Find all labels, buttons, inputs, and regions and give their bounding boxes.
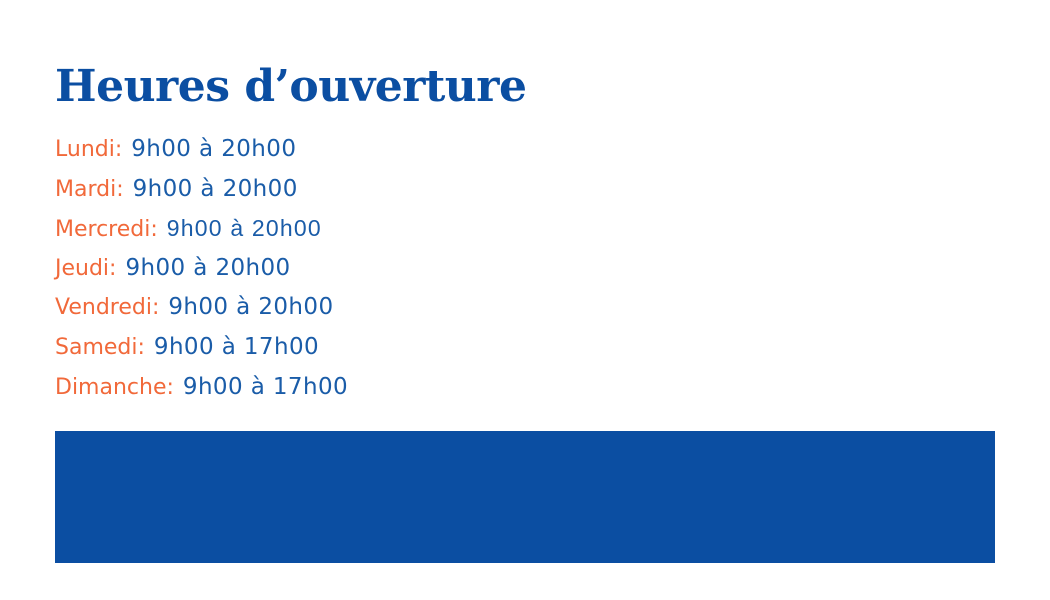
page-title: Heures d’ouverture bbox=[55, 61, 526, 113]
day-hours: 9h00 à 17h00 bbox=[174, 371, 348, 403]
day-label: Samedi: bbox=[55, 332, 145, 364]
day-label: Mercredi: bbox=[55, 214, 158, 246]
day-hours: 9h00 à 20h00 bbox=[122, 133, 296, 165]
day-hours: 9h00 à 17h00 bbox=[145, 331, 319, 363]
banner-block bbox=[55, 431, 995, 563]
day-label: Vendredi: bbox=[55, 292, 159, 324]
day-hours: 9h00 à 20h00 bbox=[116, 252, 290, 284]
day-label: Lundi: bbox=[55, 134, 122, 166]
day-label: Mardi: bbox=[55, 174, 124, 206]
list-item: Lundi:9h00 à 20h00 bbox=[55, 133, 695, 173]
day-label: Dimanche: bbox=[55, 372, 174, 404]
day-hours: 9h00 à 20h00 bbox=[158, 212, 322, 244]
list-item: Dimanche:9h00 à 17h00 bbox=[55, 371, 695, 411]
day-hours: 9h00 à 20h00 bbox=[159, 291, 333, 323]
list-item: Vendredi:9h00 à 20h00 bbox=[55, 291, 695, 331]
day-label: Jeudi: bbox=[55, 253, 116, 285]
list-item: Jeudi:9h00 à 20h00 bbox=[55, 252, 695, 292]
list-item: Mardi:9h00 à 20h00 bbox=[55, 173, 695, 213]
opening-hours-list: Lundi:9h00 à 20h00 Mardi:9h00 à 20h00 Me… bbox=[55, 133, 695, 410]
list-item: Samedi:9h00 à 17h00 bbox=[55, 331, 695, 371]
day-hours: 9h00 à 20h00 bbox=[124, 173, 298, 205]
list-item: Mercredi:9h00 à 20h00 bbox=[55, 212, 695, 252]
slide-canvas: Heures d’ouverture Lundi:9h00 à 20h00 Ma… bbox=[0, 0, 1050, 600]
